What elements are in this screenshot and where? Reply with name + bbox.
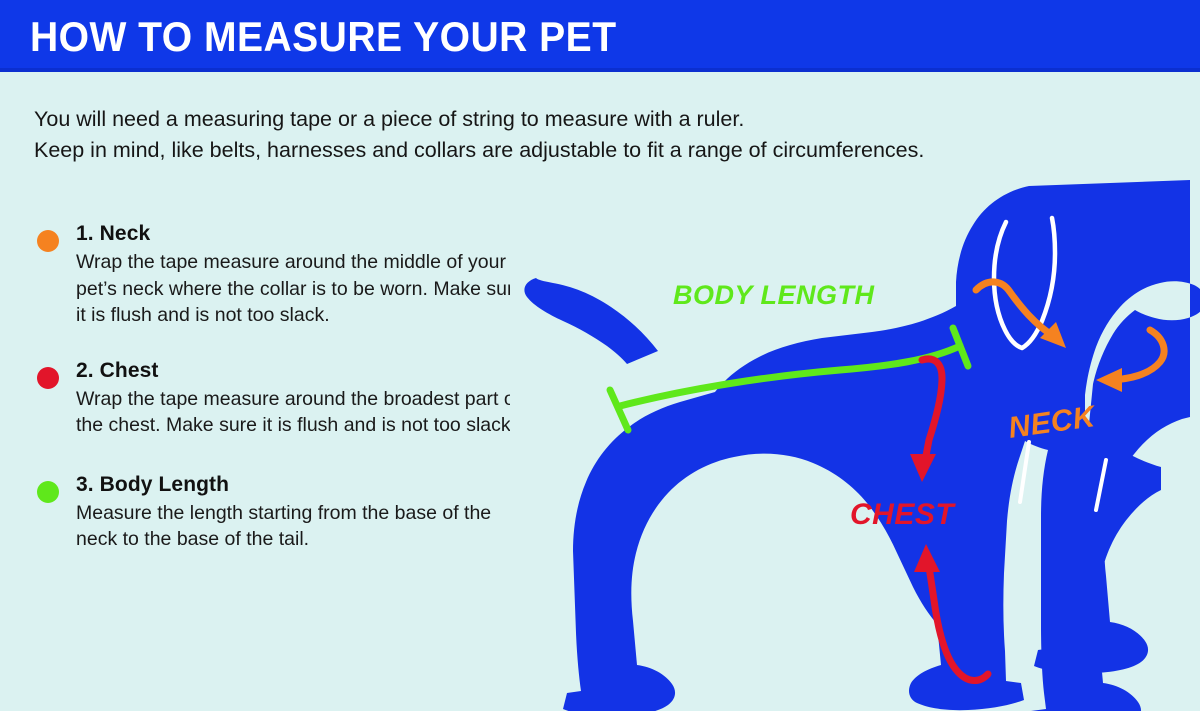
dog-illustration [510,180,1200,711]
step-title: 3. Body Length [76,473,534,497]
header-banner: HOW TO MEASURE YOUR PET [0,0,1200,72]
step-bullet-dot-green [37,481,59,503]
step-description: Measure the length starting from the bas… [76,500,534,553]
infographic-page: HOW TO MEASURE YOUR PET You will need a … [0,0,1200,711]
step-item-body-length: 3. Body Length Measure the length starti… [34,473,534,553]
dog-measurement-diagram: BODY LENGTH NECK CHEST [510,180,1200,711]
step-bullet-dot-orange [37,230,59,252]
intro-paragraph: You will need a measuring tape or a piec… [34,104,1154,166]
intro-line-2: Keep in mind, like belts, harnesses and … [34,135,1154,166]
page-title: HOW TO MEASURE YOUR PET [30,16,617,58]
step-bullet-dot-red [37,367,59,389]
step-description: Wrap the tape measure around the middle … [76,249,534,329]
step-title: 1. Neck [76,222,534,246]
measurement-steps-list: 1. Neck Wrap the tape measure around the… [34,222,534,578]
step-item-neck: 1. Neck Wrap the tape measure around the… [34,222,534,329]
step-item-chest: 2. Chest Wrap the tape measure around th… [34,359,534,439]
intro-line-1: You will need a measuring tape or a piec… [34,104,1154,135]
body-length-label: BODY LENGTH [673,280,875,310]
chest-label: CHEST [850,498,956,531]
step-title: 2. Chest [76,359,534,383]
step-description: Wrap the tape measure around the broades… [76,386,534,439]
